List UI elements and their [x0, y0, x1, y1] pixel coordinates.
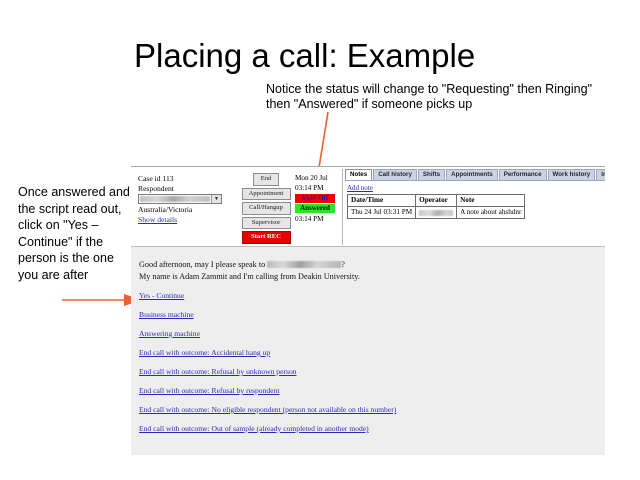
respondent-redacted-value: [140, 196, 210, 202]
respondent-label: Respondent: [138, 184, 234, 194]
option-refusal-respondent[interactable]: End call with outcome: Refusal by respon…: [139, 386, 605, 395]
tab-notes[interactable]: Notes: [345, 169, 372, 180]
col-operator: Operator: [416, 195, 457, 207]
cell-datetime: Thu 24 Jul 03:31 PM: [348, 207, 416, 219]
callout-continue-note: Once answered and the script read out, c…: [18, 184, 130, 283]
call-action-buttons: End Appointment Call/Hangup Supervisor S…: [239, 173, 293, 244]
callout-status-note: Notice the status will change to "Reques…: [266, 82, 596, 112]
table-header-row: Date/Time Operator Note: [348, 195, 525, 207]
tab-call-history[interactable]: Call history: [373, 169, 417, 180]
script-line-1: Good afternoon, may I please speak to ?: [139, 259, 605, 271]
option-yes-continue[interactable]: Yes - Continue: [139, 291, 605, 300]
start-rec-button[interactable]: Start REC: [242, 231, 291, 244]
tab-work-history[interactable]: Work history: [548, 169, 596, 180]
appointment-button[interactable]: Appointment: [242, 188, 291, 201]
status-time-bottom: 03:14 PM: [295, 214, 341, 224]
option-refusal-unknown-person[interactable]: End call with outcome: Refusal by unknow…: [139, 367, 605, 376]
case-info-block: Case id 113 Respondent ▼ Australia/Victo…: [138, 174, 234, 224]
chevron-down-icon[interactable]: ▼: [211, 195, 221, 203]
option-business-machine[interactable]: Business machine: [139, 310, 605, 319]
tab-appointments[interactable]: Appointments: [446, 169, 498, 180]
panel-divider: [342, 169, 343, 245]
end-button[interactable]: End: [253, 173, 279, 186]
case-id-label: Case id 113: [138, 174, 234, 184]
option-no-eligible-respondent[interactable]: End call with outcome: No eligible respo…: [139, 405, 605, 414]
notes-table: Date/Time Operator Note Thu 24 Jul 03:31…: [347, 194, 525, 219]
supervisor-button[interactable]: Supervisor: [242, 217, 291, 230]
timezone-label: Australia/Victoria: [138, 205, 234, 215]
col-datetime: Date/Time: [348, 195, 416, 207]
script-panel: Good afternoon, may I please speak to ? …: [131, 246, 605, 455]
tab-bar: Notes Call history Shifts Appointments P…: [345, 169, 605, 180]
cell-note: A note about ahshdnr: [457, 207, 525, 219]
cell-operator: [416, 207, 457, 219]
script-outcome-links: Yes - Continue Business machine Answerin…: [139, 291, 605, 433]
respondent-name-redacted: [267, 261, 341, 268]
show-details-link[interactable]: Show details: [138, 215, 234, 225]
respondent-select[interactable]: ▼: [138, 194, 222, 204]
call-state-badge: Answered: [295, 204, 335, 213]
tabs-panel: Notes Call history Shifts Appointments P…: [345, 169, 605, 242]
page-title: Placing a call: Example: [134, 36, 475, 76]
call-status-panel: Mon 20 Jul 03:14 PM VoIP Off Answered 03…: [295, 173, 341, 224]
app-header-area: Case id 113 Respondent ▼ Australia/Victo…: [131, 167, 605, 246]
script-line-1-after: ?: [341, 260, 345, 269]
tab-info[interactable]: Info: [596, 169, 605, 180]
embedded-app-screenshot: Case id 113 Respondent ▼ Australia/Victo…: [131, 166, 605, 455]
add-note-link[interactable]: Add note: [347, 184, 605, 192]
operator-redacted-value: [419, 210, 453, 216]
call-hangup-button[interactable]: Call/Hangup: [242, 202, 291, 215]
option-out-of-sample[interactable]: End call with outcome: Out of sample (al…: [139, 424, 605, 433]
option-accidental-hangup[interactable]: End call with outcome: Accidental hang u…: [139, 348, 605, 357]
notes-tab-content: Add note Date/Time Operator Note Thu 24 …: [345, 180, 605, 242]
status-time-top: 03:14 PM: [295, 183, 341, 193]
script-line-2: My name is Adam Zammit and I'm calling f…: [139, 271, 605, 283]
status-date: Mon 20 Jul: [295, 173, 341, 183]
voip-status-badge: VoIP Off: [295, 194, 335, 203]
table-row[interactable]: Thu 24 Jul 03:31 PM A note about ahshdnr: [348, 207, 525, 219]
script-line-1-before: Good afternoon, may I please speak to: [139, 260, 265, 269]
tab-performance[interactable]: Performance: [499, 169, 547, 180]
col-note: Note: [457, 195, 525, 207]
option-answering-machine[interactable]: Answering machine: [139, 329, 605, 338]
tab-shifts[interactable]: Shifts: [418, 169, 445, 180]
